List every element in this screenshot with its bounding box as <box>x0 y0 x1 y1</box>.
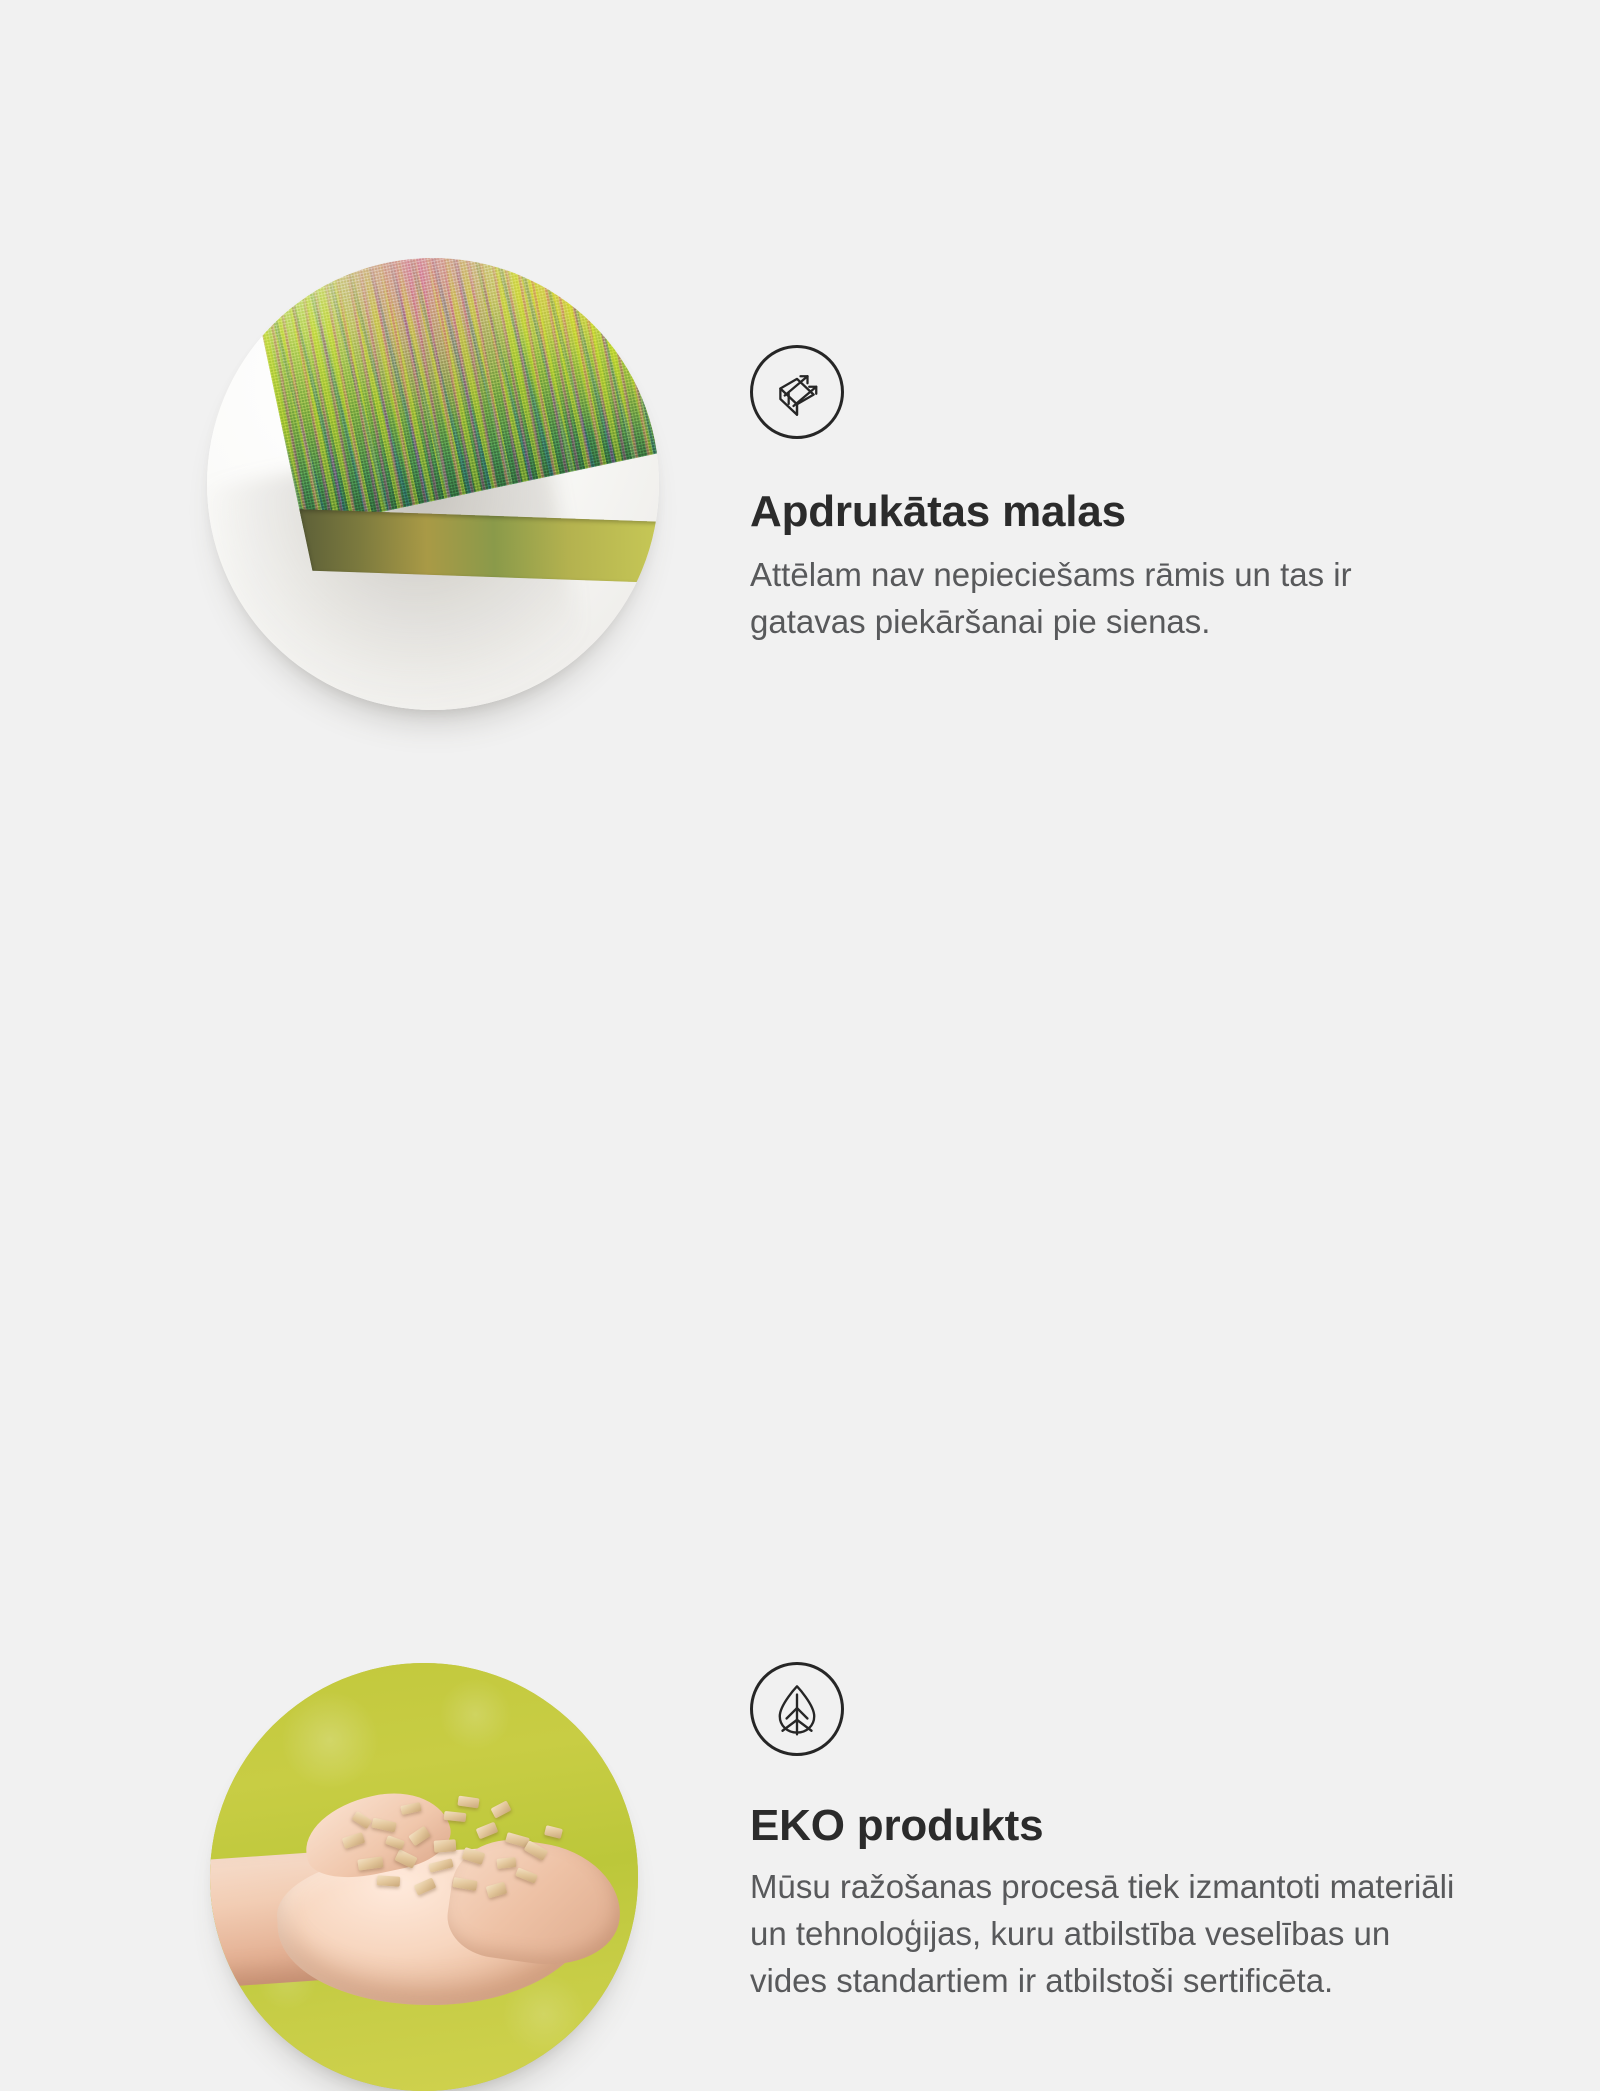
feature-block-printed-edges: Apdrukātas malas Attēlam nav nepieciešam… <box>0 0 1600 800</box>
wood-chip <box>544 1825 563 1839</box>
wood-chip <box>524 1841 549 1862</box>
wood-chip <box>429 1858 454 1873</box>
wood-chips-in-hands-photo <box>210 1663 638 2091</box>
wood-chip <box>515 1867 538 1883</box>
printed-edges-icon <box>750 345 844 439</box>
wood-chip <box>376 1875 400 1887</box>
feature-description: Mūsu ražošanas procesā tiek izmantoti ma… <box>750 1864 1466 2005</box>
feature-content-2: EKO produkts Mūsu ražošanas procesā tiek… <box>750 1662 1480 2005</box>
feature-title: EKO produkts <box>750 1802 1480 1850</box>
feature-block-eco-product: EKO produkts Mūsu ražošanas procesā tiek… <box>0 800 1600 1600</box>
wood-chip <box>342 1832 365 1849</box>
wood-chip <box>357 1856 383 1870</box>
wood-chip <box>434 1839 457 1853</box>
wood-chip <box>490 1801 511 1819</box>
canvas-printed-edge <box>300 509 659 584</box>
wood-chip <box>371 1817 397 1832</box>
wood-chip-pile <box>338 1791 578 1919</box>
wood-chip <box>462 1847 486 1865</box>
leaf-icon <box>750 1662 844 1756</box>
feature-list-page: Apdrukātas malas Attēlam nav nepieciešam… <box>0 0 1600 1600</box>
wood-chip <box>458 1795 480 1808</box>
wood-chip <box>400 1802 421 1815</box>
feature-content-1: Apdrukātas malas Attēlam nav nepieciešam… <box>750 345 1480 646</box>
wood-chip <box>352 1810 373 1828</box>
wood-chip <box>385 1835 405 1850</box>
wood-chip <box>453 1877 478 1891</box>
leaf-glyph <box>768 1680 826 1738</box>
wood-chip <box>443 1811 466 1822</box>
wood-chip <box>496 1857 516 1869</box>
printed-edges-glyph <box>769 364 825 420</box>
feature-description: Attēlam nav nepieciešams rāmis un tas ir… <box>750 552 1466 646</box>
canvas-corner-photo <box>207 258 659 710</box>
wood-chip <box>476 1821 499 1839</box>
wood-chip <box>486 1881 508 1898</box>
wood-chip <box>414 1878 437 1896</box>
wood-chip <box>394 1849 417 1869</box>
wood-chip <box>409 1826 431 1847</box>
feature-title: Apdrukātas malas <box>750 488 1480 536</box>
